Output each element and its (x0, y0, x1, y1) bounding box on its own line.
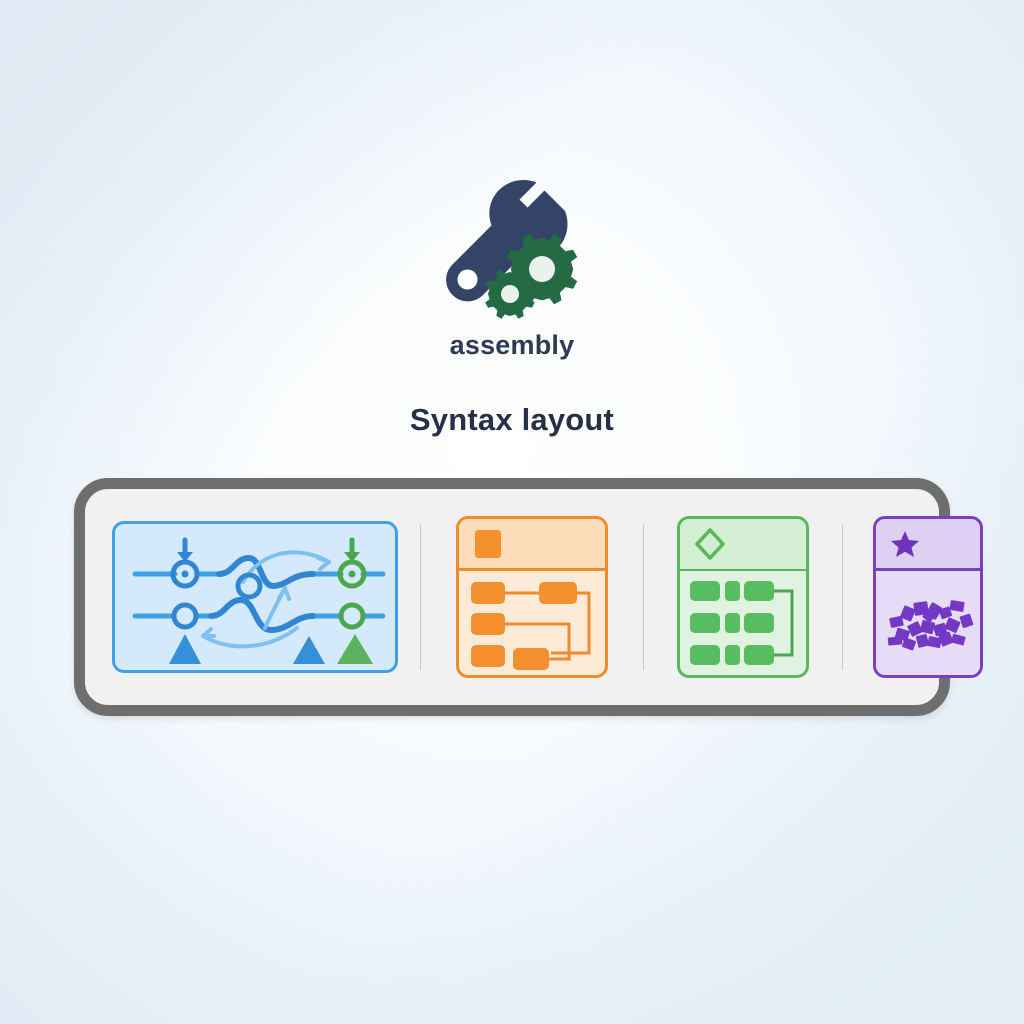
flow-diagram-panel[interactable] (112, 521, 398, 673)
grid-card-panel[interactable] (677, 516, 809, 678)
tree-diagram-icon (459, 571, 605, 675)
panel-row (85, 489, 939, 705)
page-title: Syntax layout (0, 402, 1024, 438)
grid-card-header (680, 519, 806, 571)
square-icon (473, 528, 503, 560)
panel-slot-1 (103, 489, 407, 705)
panel-divider-1 (420, 524, 421, 670)
panel-divider-2 (643, 524, 644, 670)
star-icon (890, 529, 920, 559)
brand-block: assembly (0, 176, 1024, 361)
panel-container (74, 478, 950, 716)
grid-card-body (680, 571, 806, 675)
panel-divider-3 (842, 524, 843, 670)
canvas: assembly Syntax layout (0, 0, 1024, 1024)
brand-name: assembly (450, 330, 575, 361)
fragments-icon (876, 571, 980, 675)
panel-slot-4 (856, 489, 1000, 705)
scatter-card-header (876, 519, 980, 571)
scatter-card-panel[interactable] (873, 516, 983, 678)
panel-slot-2 (434, 489, 630, 705)
grid-diagram-icon (680, 571, 806, 675)
diamond-outline-icon (694, 527, 726, 561)
wrench-and-gears-icon (432, 176, 592, 328)
flow-nodes-icon (115, 524, 398, 673)
tree-card-body (459, 571, 605, 675)
panel-slot-3 (657, 489, 829, 705)
tree-card-panel[interactable] (456, 516, 608, 678)
scatter-card-body (876, 571, 980, 675)
tree-card-header (459, 519, 605, 571)
